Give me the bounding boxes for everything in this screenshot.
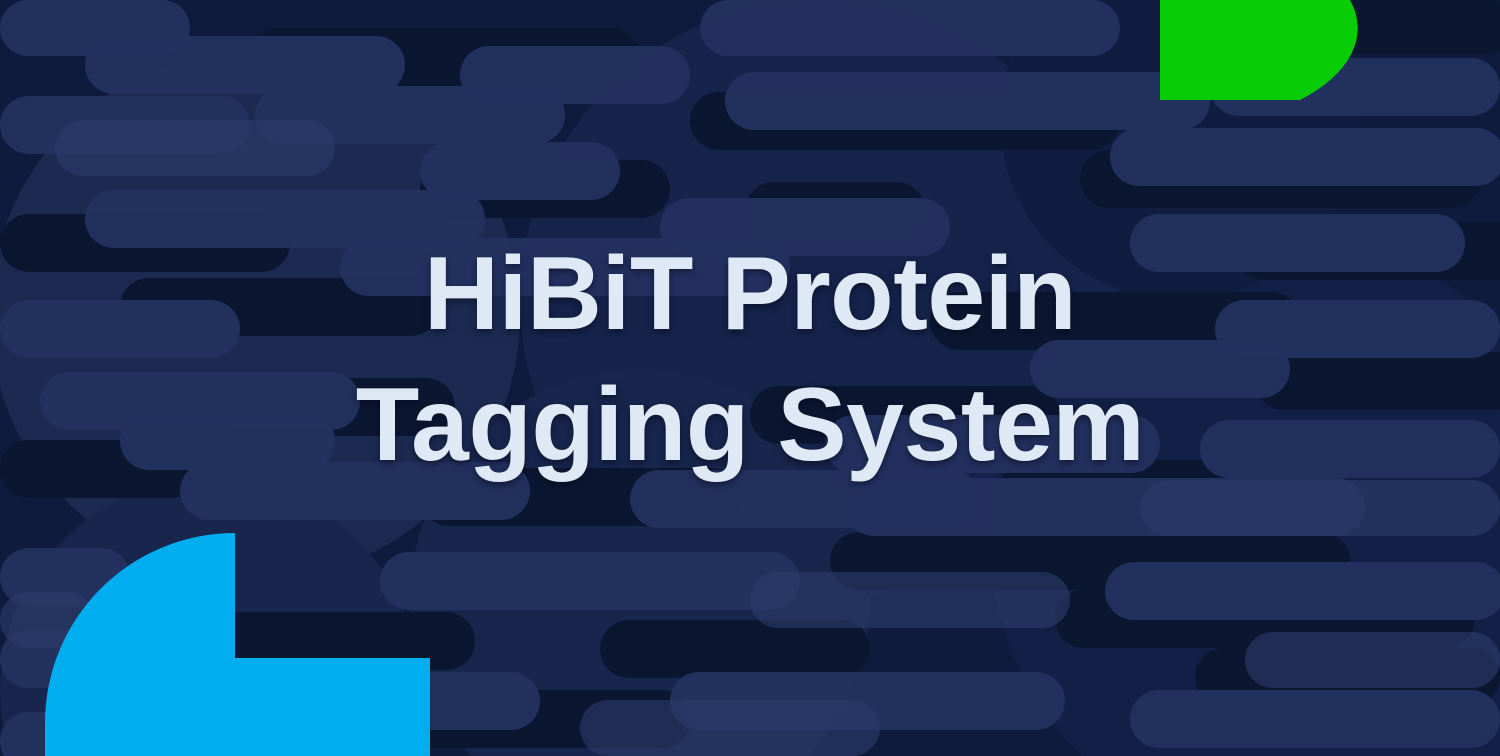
hero-banner: HiBiT Protein Tagging System: [0, 0, 1500, 756]
cyan-quarter-circle: [45, 533, 430, 756]
accent-shapes-layer: [0, 0, 1500, 756]
green-quarter-circle: [1160, 0, 1358, 100]
